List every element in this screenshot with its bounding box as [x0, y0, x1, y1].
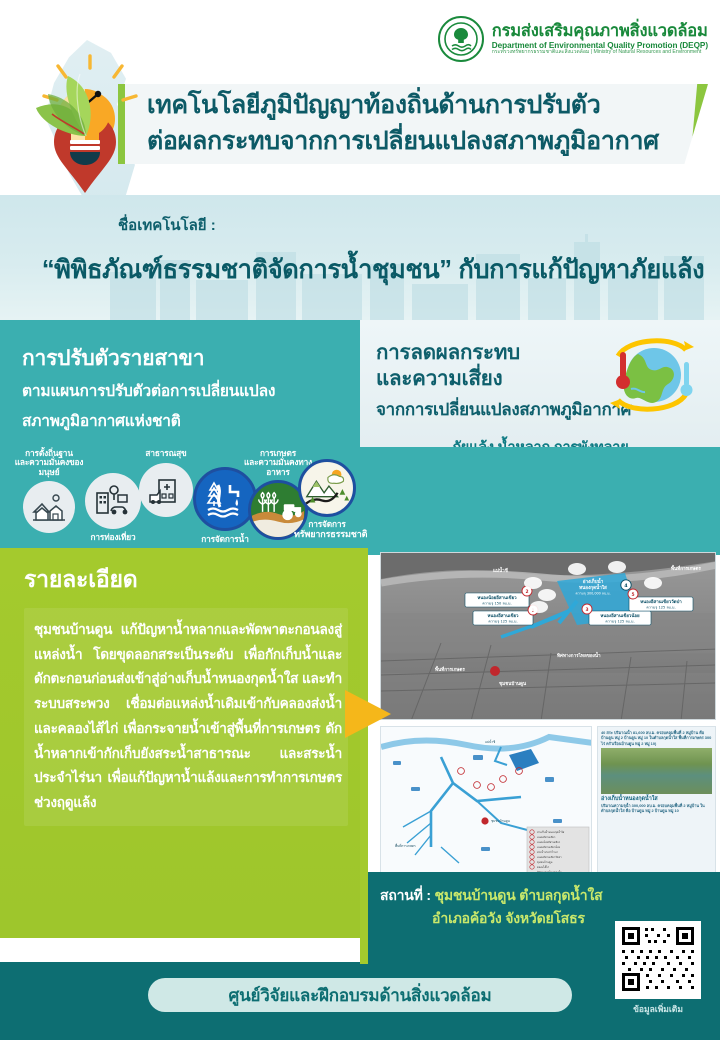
details-right-edge	[360, 548, 368, 964]
svg-text:หนองอีสานเขียวน้อย: หนองอีสานเขียวน้อย	[537, 845, 561, 849]
settlement-houses-icon	[23, 481, 75, 533]
location-label: สถานที่ :	[380, 887, 431, 903]
map-and-info-row: ชุมชนบ้านดูน พื้นที่การเกษตร พื้นที่การเ…	[380, 726, 716, 878]
aerial-photo-map[interactable]: หนองน้อยอีสานเขียว ความจุ 150 ลบ.ม. 2 หน…	[380, 552, 716, 720]
svg-text:หนองอีสานเขียววัดป่า: หนองอีสานเขียววัดป่า	[640, 598, 682, 605]
tree-water-emblem-icon	[438, 16, 484, 62]
sector-item-natural-resources[interactable]: การจัดการ ทรัพยากรธรรมชาติ	[294, 459, 360, 539]
side-text-1: 40 สระ ปริมาณน้ำ 81,600 ลบ.ม. ครอบคลุมพื…	[601, 730, 712, 746]
page-title-line1: เทคโนโลยีภูมิปัญญาท้องถิ่นด้านการปรับตัว	[125, 84, 708, 124]
location-value-line1: ชุมชนบ้านดูน ตำบลกุดน้ำใส	[435, 887, 603, 903]
svg-text:หนองน้อยอีสานเขียว: หนองน้อยอีสานเขียว	[537, 840, 561, 844]
middle-section: การปรับตัวรายสาขา ตามแผนการปรับตัวต่อการ…	[0, 320, 720, 555]
qr-block[interactable]: ข้อมูลเพิ่มเติม	[610, 916, 706, 1024]
deqp-logo: กรมส่งเสริมคุณภาพสิ่งแวดล้อม Department …	[438, 16, 708, 62]
pond-landscape-photo	[601, 748, 712, 794]
media-column: หนองน้อยอีสานเขียว ความจุ 150 ลบ.ม. 2 หน…	[380, 552, 716, 878]
page-title-line2: ต่อผลกระทบจากการเปลี่ยนแปลงสภาพภูมิอากาศ	[125, 124, 708, 160]
poster-root: กรมส่งเสริมคุณภาพสิ่งแวดล้อม Department …	[0, 0, 720, 1040]
technology-label: ชื่อเทคโนโลยี :	[118, 213, 216, 237]
sector-sublabel-natural-resources: ทรัพยากรธรรมชาติ	[294, 529, 360, 539]
svg-text:หนองอีสานเขียววัดป่า: หนองอีสานเขียววัดป่า	[537, 855, 562, 859]
water-info-panel: 40 สระ ปริมาณน้ำ 81,600 ลบ.ม. ครอบคลุมพื…	[597, 726, 716, 878]
side-text-2: ปริมาณความจุน้ำ 300,000 ลบ.ม. ครอบคลุมพื…	[601, 803, 712, 814]
qr-code-icon[interactable]	[615, 921, 701, 999]
svg-text:สระน้ำประจำไร่นา: สระน้ำประจำไร่นา	[537, 850, 558, 854]
poster-header: กรมส่งเสริมคุณภาพสิ่งแวดล้อม Department …	[0, 0, 720, 200]
svg-text:พื้นที่การเกษตร: พื้นที่การเกษตร	[395, 843, 416, 848]
adaptation-line2: สภาพภูมิอากาศแห่งชาติ	[22, 410, 340, 435]
adaptation-line1: ตามแผนการปรับตัวต่อการเปลี่ยนแปลง	[22, 380, 340, 405]
water-network-sketch-map[interactable]: ชุมชนบ้านดูน พื้นที่การเกษตร พื้นที่การเ…	[380, 726, 592, 878]
details-heading: รายละเอียด	[24, 562, 348, 598]
details-body: ชุมชนบ้านดูน แก้ปัญหาน้ำหลากและพัดพาตะกอ…	[24, 608, 348, 826]
svg-text:หนองอีสานเขียว: หนองอีสานเขียว	[537, 835, 556, 839]
svg-text:3: 3	[585, 607, 588, 613]
svg-text:หนองน้อยอีสานเขียว: หนองน้อยอีสานเขียว	[477, 594, 517, 601]
sector-list: การตั้งถิ่นฐาน และความมั่นคงของมนุษย์	[0, 447, 360, 555]
details-text: ชุมชนบ้านดูน แก้ปัญหาน้ำหลากและพัดพาตะกอ…	[34, 618, 342, 816]
org-ministry: กระทรวงทรัพยากรธรรมชาติและสิ่งแวดล้อม | …	[492, 50, 708, 56]
qr-caption: ข้อมูลเพิ่มเติม	[615, 1002, 701, 1016]
svg-text:5: 5	[631, 592, 634, 598]
poster-title-banner: เทคโนโลยีภูมิปัญญาท้องถิ่นด้านการปรับตัว…	[118, 84, 708, 164]
svg-text:หนองอีสานเขียว: หนองอีสานเขียว	[487, 613, 519, 619]
public-health-hospital-icon	[139, 463, 193, 517]
svg-text:แม่น้ำชี: แม่น้ำชี	[485, 739, 496, 744]
sector-icons-strip: การตั้งถิ่นฐาน และความมั่นคงของมนุษย์	[0, 447, 720, 555]
svg-text:ชุมชนบ้านดูน: ชุมชนบ้านดูน	[499, 680, 527, 687]
sector-label-tourism: การท่องเที่ยว	[74, 533, 152, 542]
footer-label: ศูนย์วิจัยและฝึกอบรมด้านสิ่งแวดล้อม	[229, 982, 492, 1009]
svg-text:คลองไส้ไก่: คลองไส้ไก่	[537, 865, 549, 869]
technology-name: “พิพิธภัณฑ์ธรรมชาติจัดการน้ำชุมชน” กับกา…	[28, 250, 718, 290]
globe-thermometer-cycle-icon	[598, 334, 706, 416]
org-name-th: กรมส่งเสริมคุณภาพสิ่งแวดล้อม	[492, 22, 708, 40]
lightbulb-leaf-map-pin-icon	[28, 50, 143, 200]
technology-name-band: ชื่อเทคโนโลยี : “พิพิธภัณฑ์ธรรมชาติจัดกา…	[0, 195, 720, 320]
details-panel: รายละเอียด ชุมชนบ้านดูน แก้ปัญหาน้ำหลากแ…	[0, 548, 368, 938]
side-title-2: อ่างเก็บน้ำหนองกุดน้ำใส	[601, 796, 712, 803]
details-bottom-spacer	[0, 938, 368, 962]
footer-center-pill: ศูนย์วิจัยและฝึกอบรมด้านสิ่งแวดล้อม	[148, 978, 572, 1012]
natural-resources-mountain-icon	[298, 459, 356, 517]
svg-text:4: 4	[624, 583, 627, 589]
svg-text:หนองอีสานเขียวน้อย: หนองอีสานเขียวน้อย	[600, 612, 640, 619]
sector-label-health: สาธารณสุข	[128, 449, 204, 458]
svg-text:2: 2	[525, 589, 528, 595]
adaptation-heading: การปรับตัวรายสาขา	[22, 342, 340, 375]
sector-label-natural-resources: การจัดการ	[294, 520, 360, 529]
